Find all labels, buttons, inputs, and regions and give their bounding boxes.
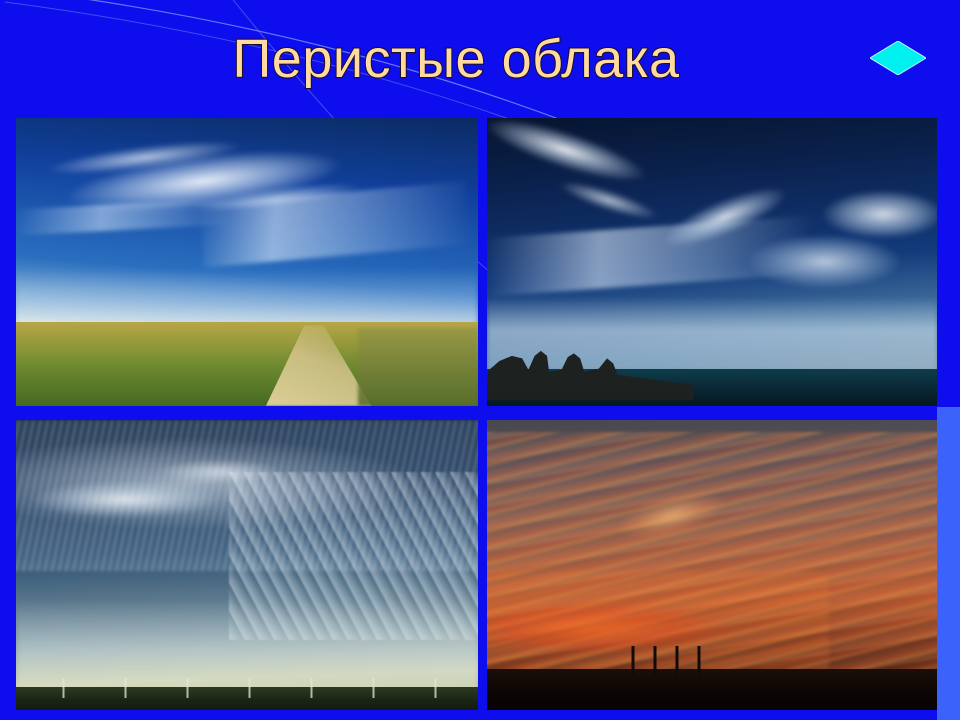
slide: Перистые облака [0, 0, 960, 720]
photo-top-left[interactable] [16, 118, 478, 406]
right-accent-band [937, 407, 960, 720]
photo-1-brush [358, 328, 478, 406]
photo-2-low-cloud-layer [487, 297, 937, 372]
photo-4-chimneys [622, 646, 712, 675]
photo-bottom-right[interactable] [487, 420, 937, 710]
photo-top-right[interactable] [487, 118, 937, 406]
photo-4-dark-horizon [487, 669, 937, 710]
photo-bottom-left[interactable] [16, 420, 478, 710]
photo-3-poles [16, 678, 478, 698]
diamond-bullet-icon [870, 41, 926, 75]
